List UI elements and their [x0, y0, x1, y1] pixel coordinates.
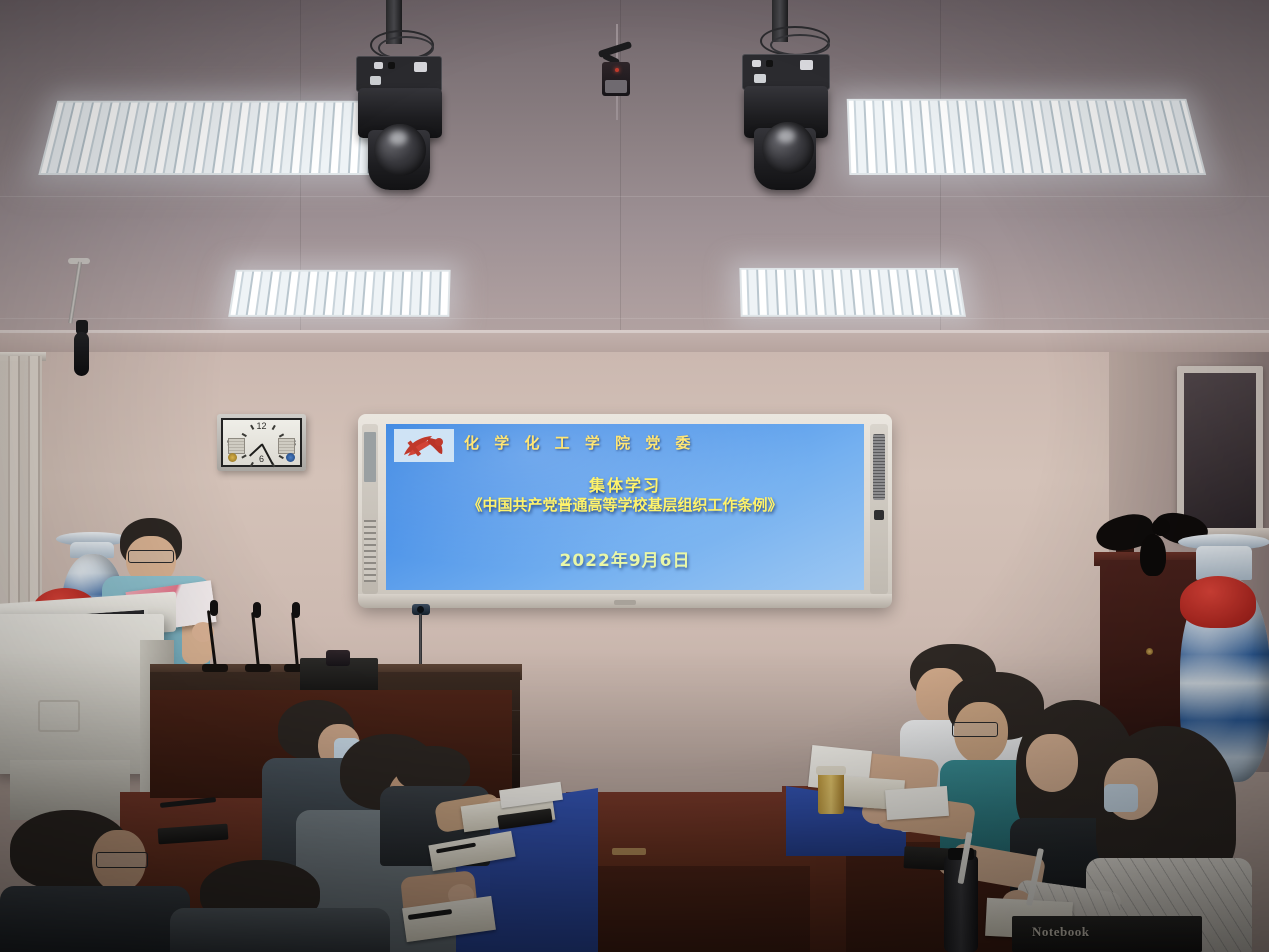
ceiling-light-panel [739, 268, 966, 317]
whiteboard-control-panel[interactable] [362, 424, 378, 594]
clock-numeral-12: 12 [256, 421, 266, 431]
speaker-grille-icon [873, 434, 885, 500]
tea-cup [818, 772, 844, 814]
camera-lens [605, 80, 627, 93]
table-drawer-handle [612, 848, 646, 855]
interactive-whiteboard[interactable]: 化 学 化 工 学 院 党 委 集体学习 《中国共产党普通高等学校基层组织工作条… [358, 414, 892, 606]
hanging-microphone [54, 258, 100, 388]
podium-logo [38, 700, 80, 732]
presentation-screen: 化 学 化 工 学 院 党 委 集体学习 《中国共产党普通高等学校基层组织工作条… [386, 424, 864, 590]
tea-cup-lid [816, 766, 846, 775]
spotlight-connector-panel [356, 56, 442, 92]
slide-date: 2022年9月6日 [386, 546, 864, 571]
desk-camera [326, 650, 350, 666]
stage-spotlight-right [736, 0, 856, 196]
conference-table-center-front [570, 866, 810, 952]
slide-organization-line: 化 学 化 工 学 院 党 委 [464, 432, 696, 453]
clock-badge-blue [286, 453, 295, 462]
clock-numeral-6: 6 [259, 454, 264, 464]
gooseneck-microphone [200, 598, 230, 672]
presenter-glasses [128, 550, 174, 563]
slide-title: 集体学习 [386, 472, 864, 496]
whiteboard-buttons[interactable] [364, 520, 376, 582]
spotlight-lens [762, 122, 814, 174]
whiteboard-ir-receiver [614, 600, 636, 605]
clock-subdial-left [228, 438, 245, 454]
ceiling-light-panel [228, 270, 450, 317]
attendee-glasses [952, 722, 998, 737]
face-mask [1104, 784, 1138, 812]
clock-badge-gold [228, 453, 237, 462]
whiteboard-status-screen [364, 432, 376, 482]
spotlight-lens [374, 124, 426, 176]
whiteboard-right-panel [870, 424, 888, 594]
slide-subtitle: 《中国共产党普通高等学校基层组织工作条例》 [386, 494, 864, 515]
microphone-capsule [74, 332, 89, 376]
wall-clock: 12 3 6 9 [217, 414, 306, 471]
cabinet-knob[interactable] [1146, 648, 1153, 655]
stage-spotlight-left [352, 0, 472, 196]
hammer-and-sickle-emblem [394, 429, 454, 462]
ceiling-light-panel [847, 99, 1206, 175]
gooseneck-microphone [243, 600, 273, 672]
clock-subdial-right [278, 438, 295, 454]
attendee-left-foreground-2 [170, 860, 400, 952]
clock-face: 12 3 6 9 [221, 418, 302, 467]
ceiling-light-panel [38, 101, 379, 175]
camera-status-led [615, 68, 619, 72]
notebook-brand-label: Notebook [1032, 924, 1089, 940]
name-card [885, 786, 949, 820]
power-button[interactable] [874, 510, 884, 520]
meeting-room-photo: 12 3 6 9 [0, 0, 1269, 952]
red-decorative-cloth-right [1180, 576, 1256, 628]
ceiling-camera [590, 24, 646, 110]
